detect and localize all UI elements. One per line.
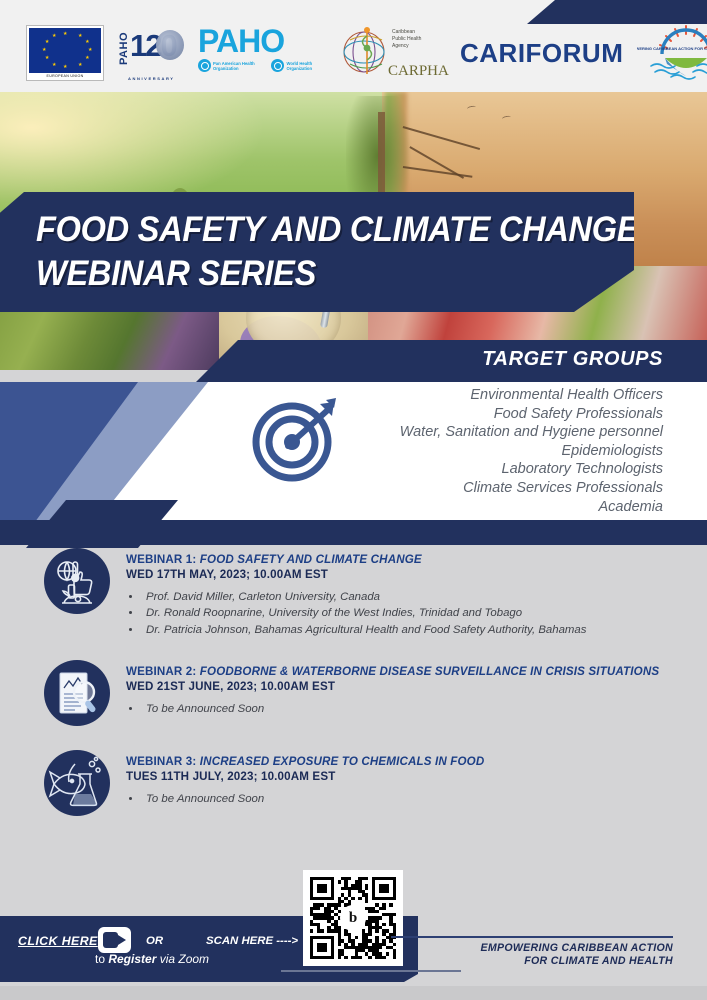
speaker-item: Dr. Patricia Johnson, Bahamas Agricultur… bbox=[142, 622, 671, 639]
header-band: ★ ★ ★ ★ ★ ★ ★ ★ ★ ★ ★ ★ EUROPEAN UNION P… bbox=[0, 0, 707, 92]
webinar-item: WEBINAR 2: FOODBORNE & WATERBORNE DISEAS… bbox=[0, 660, 707, 726]
webinar-3-date: TUES 11TH JULY, 2023; 10.00AM EST bbox=[126, 769, 671, 785]
who-org-text: World Health Organization bbox=[286, 61, 326, 71]
footer-tagline: EMPOWERING CARIBBEAN ACTION FOR CLIMATE … bbox=[480, 942, 673, 968]
title-line-2: WEBINAR SERIES bbox=[36, 252, 592, 296]
tagline-line-1: EMPOWERING CARIBBEAN ACTION bbox=[480, 942, 673, 955]
webinar-2-title: FOODBORNE & WATERBORNE DISEASE SURVEILLA… bbox=[200, 665, 659, 678]
webinar-3-label: WEBINAR 3: bbox=[126, 755, 200, 768]
paho-wordmark: PAHO bbox=[198, 25, 326, 57]
webinar-1-icon-circle bbox=[44, 548, 110, 614]
paho-120-word: PAHO bbox=[118, 32, 130, 65]
carpha-wordmark: CARPHA bbox=[388, 63, 449, 80]
target-bullseye-arrow-icon bbox=[248, 396, 344, 482]
european-union-logo: ★ ★ ★ ★ ★ ★ ★ ★ ★ ★ ★ ★ EUROPEAN UNION bbox=[26, 25, 104, 81]
target-groups-footer-bar bbox=[0, 520, 707, 545]
carpha-logo: Caribbean Public Health Agency CARPHA bbox=[336, 24, 444, 82]
target-group-item: Laboratory Technologists bbox=[400, 460, 663, 479]
or-label: OR bbox=[146, 935, 163, 947]
carpha-subtitle: Caribbean Public Health Agency bbox=[392, 29, 421, 50]
paho-org-text: Pan American Health Organization bbox=[213, 61, 265, 71]
webinar-1-heading: WEBINAR 1: FOOD SAFETY AND CLIMATE CHANG… bbox=[126, 552, 671, 567]
cariforum-logo: CARIFORUM bbox=[460, 38, 623, 69]
target-group-item: Academia bbox=[400, 498, 663, 517]
target-group-item: Climate Services Professionals bbox=[400, 479, 663, 498]
footer: CLICK HERE OR SCAN HERE ----> to Registe… bbox=[0, 916, 707, 982]
qr-code[interactable]: b bbox=[303, 870, 403, 966]
webinar-3-icon-circle bbox=[44, 750, 110, 816]
click-here-link[interactable]: CLICK HERE bbox=[18, 934, 98, 948]
poster-title-banner: FOOD SAFETY AND CLIMATE CHANGE WEBINAR S… bbox=[0, 192, 634, 312]
target-group-item: Food Safety Professionals bbox=[400, 405, 663, 424]
webinar-1-text: WEBINAR 1: FOOD SAFETY AND CLIMATE CHANG… bbox=[126, 548, 671, 638]
climate-food-thumbsup-icon bbox=[44, 548, 110, 614]
target-group-item: Epidemiologists bbox=[400, 442, 663, 461]
webinar-2-icon-circle bbox=[44, 660, 110, 726]
register-via-zoom-label: to Register via Zoom bbox=[95, 952, 209, 966]
scan-here-label: SCAN HERE ----> bbox=[206, 935, 298, 947]
target-groups-list: Environmental Health Officers Food Safet… bbox=[400, 386, 663, 516]
register-word: Register bbox=[108, 952, 156, 966]
who-seal-icon bbox=[271, 59, 284, 72]
americas-globe-icon bbox=[156, 30, 184, 60]
fish-chemical-flask-icon bbox=[44, 750, 110, 816]
webinar-item: WEBINAR 3: INCREASED EXPOSURE TO CHEMICA… bbox=[0, 750, 707, 816]
bottom-strip bbox=[0, 986, 707, 1000]
webinar-list: WEBINAR 1: FOOD SAFETY AND CLIMATE CHANG… bbox=[0, 548, 707, 830]
register-suffix: via Zoom bbox=[156, 952, 209, 966]
target-group-item: Water, Sanitation and Hygiene personnel bbox=[400, 423, 663, 442]
target-group-item: Environmental Health Officers bbox=[400, 386, 663, 405]
webinar-1-speakers: Prof. David Miller, Carleton University,… bbox=[142, 589, 671, 639]
target-groups-title: TARGET GROUPS bbox=[482, 348, 663, 371]
tagline-line-2: FOR CLIMATE AND HEALTH bbox=[480, 955, 673, 968]
carpha-caduceus-globe-icon bbox=[340, 26, 392, 76]
title-line-1: FOOD SAFETY AND CLIMATE CHANGE bbox=[36, 208, 592, 252]
webinar-2-text: WEBINAR 2: FOODBORNE & WATERBORNE DISEAS… bbox=[126, 660, 671, 726]
webinar-3-heading: WEBINAR 3: INCREASED EXPOSURE TO CHEMICA… bbox=[126, 754, 671, 769]
tagline-rule-bottom bbox=[281, 970, 461, 972]
top-right-wedge-decoration bbox=[527, 0, 707, 24]
webinar-2-speakers: To be Announced Soon bbox=[142, 701, 671, 718]
webinar-3-text: WEBINAR 3: INCREASED EXPOSURE TO CHEMICA… bbox=[126, 750, 671, 816]
webinar-2-label: WEBINAR 2: bbox=[126, 665, 200, 678]
hero-image: FOOD SAFETY AND CLIMATE CHANGE WEBINAR S… bbox=[0, 92, 707, 370]
webinar-3-speakers: To be Announced Soon bbox=[142, 791, 671, 808]
paho-logo: PAHO Pan American Health Organization Wo… bbox=[198, 25, 326, 81]
target-groups-section: TARGET GROUPS Environmental Health Offic… bbox=[0, 340, 707, 545]
webinar-2-heading: WEBINAR 2: FOODBORNE & WATERBORNE DISEAS… bbox=[126, 664, 671, 679]
eu-caption: EUROPEAN UNION bbox=[27, 73, 103, 81]
logo-row: ★ ★ ★ ★ ★ ★ ★ ★ ★ ★ ★ ★ EUROPEAN UNION P… bbox=[0, 22, 707, 84]
document-magnifier-surveillance-icon bbox=[44, 660, 110, 726]
qr-code-bitly-logo: b bbox=[340, 905, 366, 931]
sun-water-climate-health-icon: EMPOWERING CARIBBEAN ACTION FOR CLIMATE … bbox=[637, 24, 707, 82]
speaker-item: To be Announced Soon bbox=[142, 791, 671, 808]
webinar-item: WEBINAR 1: FOOD SAFETY AND CLIMATE CHANG… bbox=[0, 548, 707, 638]
webinar-3-title: INCREASED EXPOSURE TO CHEMICALS IN FOOD bbox=[200, 755, 485, 768]
speaker-item: Dr. Ronald Roopnarine, University of the… bbox=[142, 605, 671, 622]
speaker-item: Prof. David Miller, Carleton University,… bbox=[142, 589, 671, 606]
paho-seal-icon bbox=[198, 59, 211, 72]
webinar-2-date: WED 21ST JUNE, 2023; 10.00AM EST bbox=[126, 679, 671, 695]
zoom-video-camera-icon[interactable] bbox=[98, 927, 131, 953]
ecach-caption: EMPOWERING CARIBBEAN ACTION FOR CLIMATE … bbox=[637, 46, 707, 51]
webinar-1-title: FOOD SAFETY AND CLIMATE CHANGE bbox=[200, 553, 422, 566]
poster: ★ ★ ★ ★ ★ ★ ★ ★ ★ ★ ★ ★ EUROPEAN UNION P… bbox=[0, 0, 707, 1000]
paho-120-caption: ANNIVERSARY bbox=[128, 76, 175, 81]
webinar-1-date: WED 17TH MAY, 2023; 10.00AM EST bbox=[126, 567, 671, 583]
ecach-logo: EMPOWERING CARIBBEAN ACTION FOR CLIMATE … bbox=[637, 24, 707, 82]
paho-120-anniversary-logo: PAHO 120 ANNIVERSARY bbox=[116, 26, 186, 80]
webinar-1-label: WEBINAR 1: bbox=[126, 553, 200, 566]
register-prefix: to bbox=[95, 952, 108, 966]
tagline-rule-top bbox=[391, 936, 673, 938]
speaker-item: To be Announced Soon bbox=[142, 701, 671, 718]
eu-flag: ★ ★ ★ ★ ★ ★ ★ ★ ★ ★ ★ ★ bbox=[29, 28, 101, 73]
